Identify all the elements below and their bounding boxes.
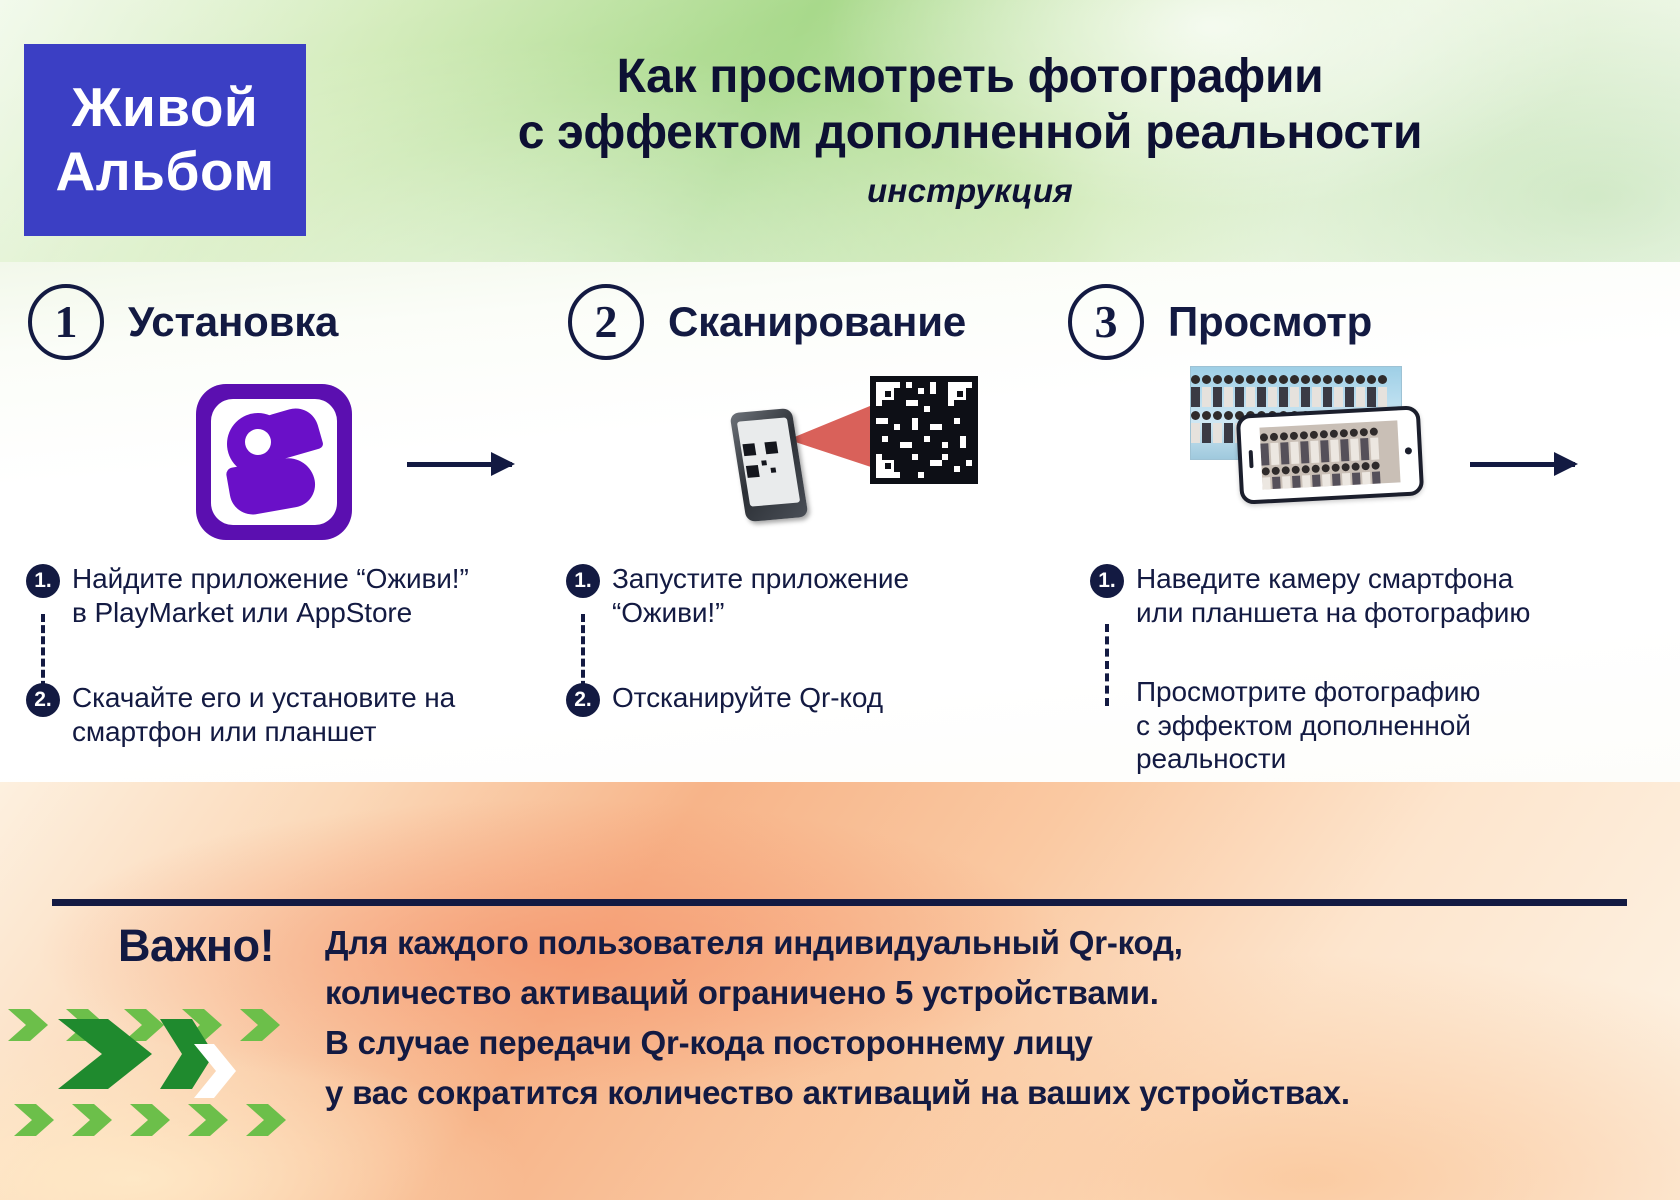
important-divider — [52, 899, 1627, 906]
step-3-number-circle: 3 — [1068, 284, 1144, 360]
step-1-bullets: 1. Найдите приложение “Оживи!” в PlayMar… — [26, 562, 546, 748]
brand-logo: Живой Альбом — [24, 44, 306, 236]
step-3-bullet-1-text: Наведите камеру смартфона или планшета н… — [1136, 562, 1530, 629]
text-line: Скачайте его и установите на — [72, 681, 455, 715]
infographic-page: Живой Альбом Как просмотреть фотографии … — [0, 0, 1680, 1200]
step-2-bullets: 1. Запустите приложение “Оживи!” 2. Отск… — [566, 562, 1066, 717]
text-line: в PlayMarket или AppStore — [72, 596, 469, 630]
text-line: Найдите приложение “Оживи!” — [72, 562, 469, 596]
text-line: Запустите приложение — [612, 562, 909, 596]
chevron-decor-white — [188, 1040, 242, 1102]
step-3-bullets: 1. Наведите камеру смартфона или планшет… — [1090, 562, 1660, 776]
text-line: у вас сократится количество активаций на… — [325, 1068, 1615, 1118]
step-3-bullet-2-text: Просмотрите фотографию с эффектом дополн… — [1136, 675, 1480, 776]
step-3-title: Просмотр — [1168, 298, 1372, 346]
list-item: 1. Наведите камеру смартфона или планшет… — [1090, 562, 1660, 629]
step-3-bullet-1-marker: 1. — [1090, 564, 1124, 598]
step-2-bullet-2-text: Отсканируйте Qr-код — [612, 681, 883, 715]
step-2-number-circle: 2 — [568, 284, 644, 360]
smartphone-ar-preview — [1236, 405, 1424, 505]
step-2-number: 2 — [595, 299, 618, 345]
app-icon-ozhivi — [196, 384, 352, 540]
text-line: В случае передачи Qr-кода постороннему л… — [325, 1018, 1615, 1068]
steps-panel: 1 Установка 1. — [0, 262, 1680, 782]
step-1-bullet-2-text: Скачайте его и установите на смартфон ил… — [72, 681, 455, 748]
header-banner: Живой Альбом Как просмотреть фотографии … — [0, 0, 1680, 262]
step-3-number: 3 — [1095, 299, 1118, 345]
step-2-bullet-2-marker: 2. — [566, 683, 600, 717]
step-3-header: 3 Просмотр — [1068, 284, 1372, 360]
text-line: Просмотрите фотографию — [1136, 675, 1480, 709]
step-2-title: Сканирование — [668, 298, 966, 346]
step-1-bullet-1-text: Найдите приложение “Оживи!” в PlayMarket… — [72, 562, 469, 629]
text-line: количество активаций ограничено 5 устрой… — [325, 968, 1615, 1018]
text-line: смартфон или планшет — [72, 715, 455, 749]
step-1-number-circle: 1 — [28, 284, 104, 360]
page-title-block: Как просмотреть фотографии с эффектом до… — [300, 50, 1640, 210]
step-1-bullet-1-marker: 1. — [26, 564, 60, 598]
step-column-1: 1 Установка 1. — [0, 262, 560, 782]
arrow-step1-to-step2 — [407, 462, 512, 467]
step-1-header: 1 Установка — [28, 284, 338, 360]
list-item: 2. Скачайте его и установите на смартфон… — [26, 681, 546, 748]
step-1-title: Установка — [128, 298, 338, 346]
text-line: с эффектом дополненной — [1136, 709, 1480, 743]
list-item: 1. Запустите приложение “Оживи!” — [566, 562, 1066, 629]
list-item: 1. Найдите приложение “Оживи!” в PlayMar… — [26, 562, 546, 629]
step-2-bullet-1-marker: 1. — [566, 564, 600, 598]
list-item: Просмотрите фотографию с эффектом дополн… — [1090, 675, 1660, 776]
scan-beam — [787, 402, 881, 473]
page-subtitle: инструкция — [300, 172, 1640, 210]
list-item: 2. Отсканируйте Qr-код — [566, 681, 1066, 717]
step-1-number: 1 — [55, 299, 78, 345]
text-line: Отсканируйте Qr-код — [612, 681, 883, 715]
step-2-header: 2 Сканирование — [568, 284, 966, 360]
step-1-bullet-2-marker: 2. — [26, 683, 60, 717]
page-title-line1: Как просмотреть фотографии — [300, 50, 1640, 104]
brand-logo-line2: Альбом — [56, 145, 275, 199]
text-line: Для каждого пользователя индивидуальный … — [325, 918, 1615, 968]
page-title-line2: с эффектом дополненной реальности — [300, 106, 1640, 160]
text-line: “Оживи!” — [612, 596, 909, 630]
brand-logo-line1: Живой — [72, 81, 259, 135]
step-column-3: 3 Просмотр — [1060, 262, 1680, 782]
phone-scanning-qr-icon — [720, 362, 940, 542]
text-line: реальности — [1136, 742, 1480, 776]
step-column-2: 2 Сканирование — [540, 262, 1080, 782]
step-2-bullet-1-text: Запустите приложение “Оживи!” — [612, 562, 909, 629]
text-line: Наведите камеру смартфона — [1136, 562, 1530, 596]
important-label: Важно! — [118, 920, 274, 972]
qr-code-icon — [870, 376, 978, 484]
important-text: Для каждого пользователя индивидуальный … — [325, 918, 1615, 1119]
chevron-decor-row2 — [14, 1100, 314, 1140]
text-line: или планшета на фотографию — [1136, 596, 1530, 630]
